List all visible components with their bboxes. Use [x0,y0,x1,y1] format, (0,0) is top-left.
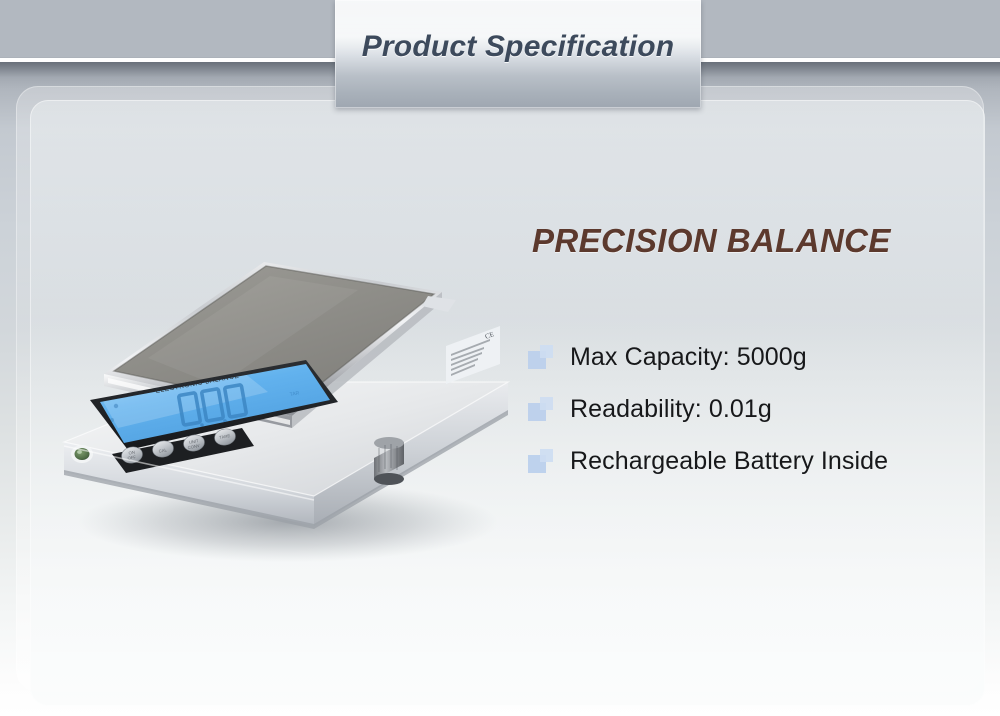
list-item-label: Max Capacity: 5000g [570,344,807,372]
list-item: Max Capacity: 5000g [528,332,968,384]
specification-block: PRECISION BALANCE Max Capacity: 5000g Re… [528,222,968,488]
product-heading: PRECISION BALANCE [532,222,968,260]
list-item: Rechargeable Battery Inside [528,436,968,488]
header-banner: Product Specification [335,0,701,108]
specification-list: Max Capacity: 5000g Readability: 0.01g R… [528,332,968,488]
product-image-precision-balance: CE [38,196,538,566]
list-item: Readability: 0.01g [528,384,968,436]
page-title: Product Specification [335,30,701,64]
list-item-label: Rechargeable Battery Inside [570,448,888,476]
lcd-status-icon-1 [114,404,118,408]
lcd-decimal-1 [200,423,204,427]
leveling-foot [374,437,404,485]
list-item-label: Readability: 0.01g [570,396,772,424]
